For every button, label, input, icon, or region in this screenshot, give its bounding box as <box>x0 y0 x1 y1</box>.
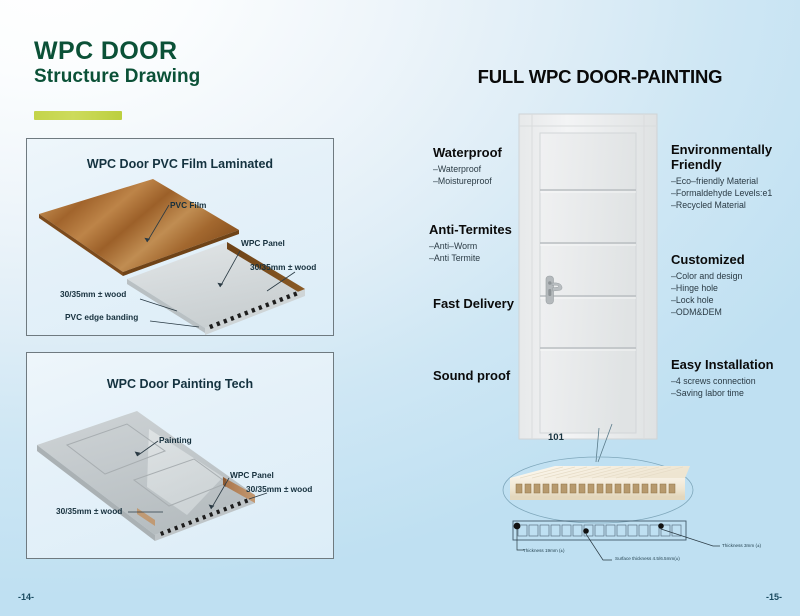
feature-environmentally-friendly: Environmentally Friendly –Eco–friendly M… <box>671 143 795 211</box>
feature-bullets: –Eco–friendly Material –Formaldehyde Lev… <box>671 175 795 211</box>
right-page: FULL WPC DOOR-PAINTING <box>400 0 800 616</box>
feature-bullet: –Moistureproof <box>433 175 502 187</box>
diagram1-label-wpc-panel: WPC Panel <box>241 239 285 247</box>
feature-bullet: –Anti–Worm <box>429 240 512 252</box>
cross-section-schematic <box>513 521 720 560</box>
diagram1-label-pvc-film: PVC Film <box>170 201 206 209</box>
feature-bullet: –ODM&DEM <box>671 306 745 318</box>
painted-door-leaf <box>37 411 255 541</box>
thickness-note-core: Thickness 19mm (±) <box>523 549 565 554</box>
feature-bullet: –4 screws connection <box>671 375 774 387</box>
diagram2-label-painting: Painting <box>159 436 192 444</box>
door-model-number: 101 <box>548 432 564 443</box>
diagram1-illustration <box>27 139 335 337</box>
feature-heading: Waterproof <box>433 146 502 161</box>
feature-bullets: –4 screws connection –Saving labor time <box>671 375 774 399</box>
diagram1-label-wood-left: 30/35mm ± wood <box>60 290 126 298</box>
diagram1-label-edge-band: PVC edge banding <box>65 313 138 321</box>
feature-bullets: –Waterproof –Moistureproof <box>433 163 502 187</box>
feature-bullet: –Eco–friendly Material <box>671 175 795 187</box>
feature-bullet: –Anti Termite <box>429 252 512 264</box>
diagram2-illustration <box>27 353 335 560</box>
page-title: WPC DOOR <box>34 38 200 65</box>
feature-bullet: –Formaldehyde Levels:e1 <box>671 187 795 199</box>
hollow-core-panel-sample <box>510 466 690 500</box>
feature-bullet: –Saving labor time <box>671 387 774 399</box>
diagram-box-painting-tech: WPC Door Painting Tech <box>26 352 334 559</box>
feature-waterproof: Waterproof –Waterproof –Moistureproof <box>433 146 502 187</box>
feature-bullet: –Waterproof <box>433 163 502 175</box>
diagram-box-pvc-film: WPC Door PVC Film Laminated <box>26 138 334 336</box>
feature-heading: Fast Delivery <box>433 297 514 312</box>
page-title-block: WPC DOOR Structure Drawing <box>34 38 200 88</box>
feature-customized: Customized –Color and design –Hinge hole… <box>671 253 745 318</box>
diagram2-label-wpc-panel: WPC Panel <box>230 471 274 479</box>
feature-heading: Easy Installation <box>671 358 774 373</box>
feature-bullet: –Hinge hole <box>671 282 745 294</box>
feature-anti-termites: Anti-Termites –Anti–Worm –Anti Termite <box>429 223 512 264</box>
thickness-note-skin: Thickness 3mm (±) <box>722 544 761 549</box>
diagram2-label-wood-left: 30/35mm ± wood <box>56 507 122 515</box>
feature-bullet: –Color and design <box>671 270 745 282</box>
feature-bullets: –Anti–Worm –Anti Termite <box>429 240 512 264</box>
feature-fast-delivery: Fast Delivery <box>433 297 514 312</box>
feature-bullet: –Lock hole <box>671 294 745 306</box>
feature-sound-proof: Sound proof <box>433 369 510 384</box>
page-subtitle: Structure Drawing <box>34 66 200 88</box>
feature-heading: Customized <box>671 253 745 268</box>
page-number-right: -15- <box>766 592 782 602</box>
slide-page: WPC DOOR Structure Drawing WPC Door PVC … <box>0 0 800 616</box>
feature-bullet: –Recycled Material <box>671 199 795 211</box>
feature-heading: Anti-Termites <box>429 223 512 238</box>
diagram1-label-wood-right: 30/35mm ± wood <box>250 263 316 271</box>
thickness-note-surface: Surface thickness 4.5/6.5mm(±) <box>615 557 680 562</box>
feature-heading: Environmentally Friendly <box>671 143 795 173</box>
page-number-left: -14- <box>18 592 34 602</box>
diagram2-label-wood-right: 30/35mm ± wood <box>246 485 312 493</box>
feature-bullets: –Color and design –Hinge hole –Lock hole… <box>671 270 745 319</box>
feature-heading: Sound proof <box>433 369 510 384</box>
left-page: WPC DOOR Structure Drawing WPC Door PVC … <box>0 0 400 616</box>
accent-bar <box>34 111 122 120</box>
feature-easy-installation: Easy Installation –4 screws connection –… <box>671 358 774 399</box>
